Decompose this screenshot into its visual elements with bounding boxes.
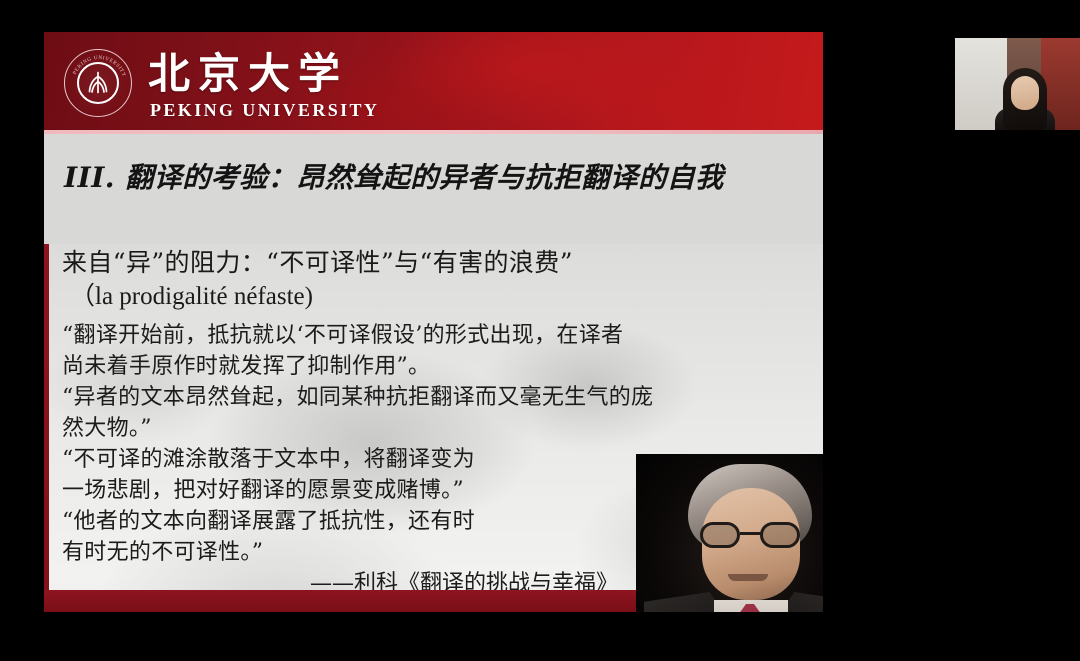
slide-left-accent-stripe <box>44 244 49 612</box>
ricoeur-portrait-photo <box>636 454 823 612</box>
screen-recording-frame: PEKING UNIVERSITY 北京大学 PEKING UNIVERSITY <box>0 0 1080 661</box>
slide-quote-1: “翻译开始前，抵抗就以‘不可译假设’的形式出现，在译者 尚未着手原作时就发挥了抑… <box>62 320 814 382</box>
webcam-person-face <box>1011 76 1039 110</box>
portrait-mouth <box>728 574 768 581</box>
seal-beida-glyph <box>84 71 112 95</box>
peking-university-seal-icon: PEKING UNIVERSITY <box>64 49 132 117</box>
slide-title: III. 翻译的考验：昂然耸起的异者与抗拒翻译的自我 <box>64 156 809 200</box>
pku-wordmark-english: PEKING UNIVERSITY <box>150 100 379 121</box>
slide-quote-2: “异者的文本昂然耸起，如同某种抗拒翻译而又毫无生气的庞 然大物。” <box>62 382 814 444</box>
portrait-eyeglasses-icon <box>698 522 806 548</box>
eyeglass-lens-right <box>760 522 800 548</box>
pku-wordmark-chinese: 北京大学 <box>148 50 348 98</box>
header-accent-line <box>44 130 823 134</box>
slide-quote-4: “他者的文本向翻译展露了抵抗性，还有时 有时无的不可译性。” <box>62 506 622 568</box>
slide-header-banner: PEKING UNIVERSITY 北京大学 PEKING UNIVERSITY <box>44 32 823 134</box>
presenter-webcam-tile[interactable] <box>955 38 1080 130</box>
eyeglass-lens-left <box>700 522 740 548</box>
eyeglass-bridge <box>740 532 762 535</box>
slide-subtitle-chinese: 来自“异”的阻力：“不可译性”与“有害的浪费” <box>62 246 812 280</box>
presentation-slide: PEKING UNIVERSITY 北京大学 PEKING UNIVERSITY <box>44 32 823 612</box>
slide-quote-3: “不可译的滩涂散落于文本中，将翻译变为 一场悲剧，把对好翻译的愿景变成赌博。” <box>62 444 622 506</box>
slide-subtitle-french: （la prodigalité néfaste) <box>70 280 313 314</box>
